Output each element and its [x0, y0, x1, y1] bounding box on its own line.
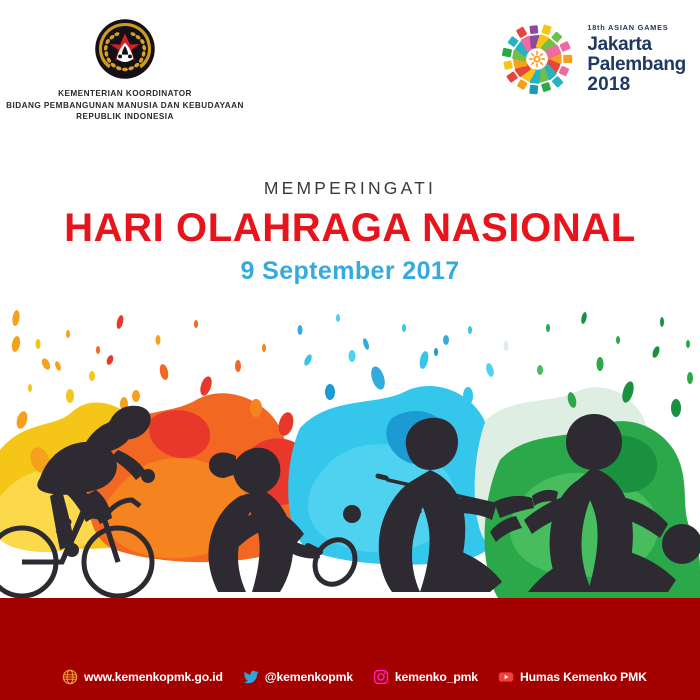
asian-games-sunburst-icon: [496, 18, 578, 100]
twitter-label: @kemenkopmk: [265, 670, 353, 684]
ministry-name: KEMENTERIAN KOORDINATOR BIDANG PEMBANGUN…: [0, 88, 250, 123]
ministry-line-2: BIDANG PEMBANGUNAN MANUSIA DAN KEBUDAYAA…: [0, 100, 250, 112]
social-link-youtube[interactable]: Humas Kemenko PMK: [498, 669, 647, 685]
youtube-label: Humas Kemenko PMK: [520, 670, 647, 684]
sports-illustration: [0, 300, 700, 602]
kicker-text: MEMPERINGATI: [0, 178, 700, 199]
asian-games-city-1: Jakarta: [587, 35, 686, 54]
asian-games-wordmark: 18th ASIAN GAMES Jakarta Palembang 2018: [587, 24, 686, 94]
social-link-website[interactable]: www.kemenkopmk.go.id: [62, 669, 223, 685]
instagram-label: kemenko_pmk: [395, 670, 478, 684]
asian-games-edition: 18th ASIAN GAMES: [587, 24, 686, 31]
twitter-icon: [243, 669, 259, 685]
poster-canvas: KEMENTERIAN KOORDINATOR BIDANG PEMBANGUN…: [0, 0, 700, 700]
instagram-icon: [373, 669, 389, 685]
asian-games-city-2: Palembang: [587, 55, 686, 74]
ministry-lockup: KEMENTERIAN KOORDINATOR BIDANG PEMBANGUN…: [0, 18, 250, 123]
globe-icon: [62, 669, 78, 685]
social-link-instagram[interactable]: kemenko_pmk: [373, 669, 478, 685]
splatter-artwork: [0, 300, 700, 602]
ministry-line-3: REPUBLIK INDONESIA: [0, 111, 250, 123]
ministry-line-1: KEMENTERIAN KOORDINATOR: [0, 88, 250, 100]
social-link-twitter[interactable]: @kemenkopmk: [243, 669, 353, 685]
footer-band: www.kemenkopmk.go.id @kemenkopmk kemenko…: [0, 598, 700, 700]
ministry-emblem-icon: [94, 18, 156, 80]
youtube-icon: [498, 669, 514, 685]
title-block: MEMPERINGATI HARI OLAHRAGA NASIONAL 9 Se…: [0, 178, 700, 284]
social-links-bar: www.kemenkopmk.go.id @kemenkopmk kemenko…: [0, 654, 700, 700]
asian-games-lockup: 18th ASIAN GAMES Jakarta Palembang 2018: [496, 18, 686, 100]
website-label: www.kemenkopmk.go.id: [84, 670, 223, 684]
page-title: HARI OLAHRAGA NASIONAL: [0, 208, 700, 248]
event-date: 9 September 2017: [0, 259, 700, 284]
asian-games-year: 2018: [587, 75, 686, 94]
